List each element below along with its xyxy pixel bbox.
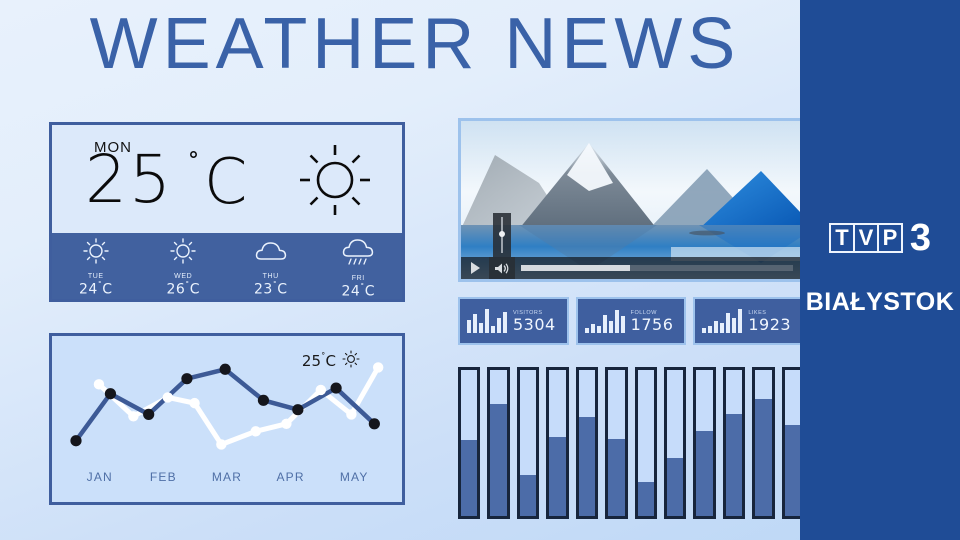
- gauge-fill: [549, 437, 565, 516]
- mini-bar: [603, 315, 607, 333]
- mini-bar: [615, 310, 619, 333]
- current-conditions: MON 25 ˚ C: [52, 125, 402, 233]
- chart-x-axis: JAN FEB MAR APR MAY: [52, 470, 402, 484]
- data-point: [331, 382, 342, 393]
- stat-value: 5304: [513, 316, 556, 333]
- gauge-fill: [608, 439, 624, 516]
- stat-text: LIKES 1923: [748, 310, 791, 333]
- weather-news-broadcast-graphic: WEATHER NEWS MON 25 ˚ C: [0, 0, 960, 540]
- gauge-bar: [517, 367, 539, 519]
- callout-temperature: 25˚C: [302, 352, 336, 370]
- forecast-temperature: 24˚C: [341, 283, 375, 300]
- mini-bar: [479, 323, 483, 333]
- mini-bar: [732, 318, 736, 333]
- stat-card-visitors[interactable]: VISITORS 5304: [458, 297, 569, 345]
- forecast-day-wed: WED 26˚C: [140, 233, 228, 299]
- data-point: [143, 409, 154, 420]
- mini-bar: [708, 326, 712, 333]
- gauge-fill: [579, 417, 595, 516]
- forecast-day-thu: THU 23˚C: [227, 233, 315, 299]
- tvp-logo: T V P 3: [800, 222, 960, 254]
- data-point: [70, 435, 81, 446]
- forecast-temperature: 24˚C: [79, 281, 113, 298]
- gauge-fill: [638, 482, 654, 516]
- video-progress-fill: [521, 265, 630, 271]
- gauge-bar: [752, 367, 774, 519]
- mini-bar: [702, 328, 706, 333]
- sun-icon: [81, 238, 111, 271]
- temperature-trend-chart: 25˚C JAN: [49, 333, 405, 505]
- forecast-day-fri: FRI 24˚C: [315, 233, 403, 299]
- data-point: [316, 385, 326, 395]
- stat-card-likes[interactable]: LIKES 1923: [693, 297, 804, 345]
- forecast-day-label: FRI: [352, 275, 365, 282]
- tvp-letter-t: T: [829, 223, 855, 253]
- tvp-letter-boxes: T V P: [829, 223, 903, 253]
- gauge-bar: [635, 367, 657, 519]
- data-point: [189, 398, 199, 408]
- current-temperature-unit: C: [204, 151, 247, 213]
- axis-tick-feb: FEB: [132, 470, 196, 484]
- forecast-temperature: 26˚C: [166, 281, 200, 298]
- tvp-letter-p: P: [877, 223, 903, 253]
- forecast-temperature: 23˚C: [254, 281, 288, 298]
- mini-bar: [473, 314, 477, 333]
- data-point: [181, 373, 192, 384]
- forecast-day-tue: TUE 24˚C: [52, 233, 140, 299]
- gauge-fill: [520, 475, 536, 516]
- cloud-icon: [254, 238, 288, 271]
- rain-icon: [341, 238, 375, 273]
- data-point: [251, 426, 261, 436]
- sun-icon: [168, 238, 198, 271]
- gauge-bar: [546, 367, 568, 519]
- data-point: [105, 388, 116, 399]
- stat-text: VISITORS 5304: [513, 310, 556, 333]
- data-point: [216, 439, 226, 449]
- data-point: [373, 362, 383, 372]
- gauge-bar: [487, 367, 509, 519]
- tvp-channel-number: 3: [910, 222, 931, 254]
- gauge-fill: [785, 425, 801, 516]
- forecast-day-label: TUE: [88, 273, 104, 280]
- mini-bar: [485, 309, 489, 333]
- video-progress-bar[interactable]: [521, 265, 793, 271]
- current-temperature: 25: [85, 147, 173, 213]
- gauge-bar: [723, 367, 745, 519]
- gauge-bar: [693, 367, 715, 519]
- sun-icon: [342, 350, 360, 372]
- gauge-fill: [726, 414, 742, 516]
- data-point: [369, 418, 380, 429]
- video-scene-image: [461, 121, 801, 279]
- mini-bar-chart-icon: [467, 309, 507, 333]
- data-point: [258, 395, 269, 406]
- sun-icon: [296, 141, 374, 224]
- mini-bar: [720, 323, 724, 333]
- gauge-bar: [605, 367, 627, 519]
- mini-bar-chart-icon: [585, 309, 625, 333]
- tvp-letter-v: V: [853, 223, 879, 253]
- chart-callout: 25˚C: [302, 350, 360, 372]
- stat-value: 1756: [631, 316, 674, 333]
- mini-bar: [609, 321, 613, 333]
- gauge-fill: [696, 431, 712, 516]
- mini-bar: [503, 312, 507, 333]
- volume-slider[interactable]: [493, 213, 511, 257]
- current-degree-symbol: ˚: [187, 151, 200, 181]
- gauge-bar-chart: [458, 367, 804, 519]
- tvp-city-label: BIAŁYSTOK: [800, 288, 960, 317]
- axis-tick-mar: MAR: [195, 470, 259, 484]
- data-point: [281, 419, 291, 429]
- broadcaster-panel: T V P 3 BIAŁYSTOK: [800, 0, 960, 540]
- play-icon[interactable]: [461, 257, 489, 279]
- mini-bar: [591, 324, 595, 333]
- data-point: [346, 409, 356, 419]
- weather-card: MON 25 ˚ C: [49, 122, 405, 302]
- page-title: WEATHER NEWS: [0, 2, 830, 86]
- mini-bar: [621, 316, 625, 333]
- mini-bar: [497, 318, 501, 333]
- gauge-fill: [461, 440, 477, 516]
- forecast-strip: TUE 24˚C: [52, 233, 402, 299]
- gauge-bar: [664, 367, 686, 519]
- mini-bar-chart-icon: [702, 309, 742, 333]
- data-point: [163, 392, 173, 402]
- data-point: [94, 379, 104, 389]
- data-point: [220, 364, 231, 375]
- data-point: [292, 404, 303, 415]
- video-controls-bar[interactable]: [461, 257, 801, 279]
- forecast-day-label: THU: [263, 273, 279, 280]
- mini-bar: [597, 326, 601, 333]
- gauge-bar: [458, 367, 480, 519]
- axis-tick-may: MAY: [322, 470, 386, 484]
- data-point: [128, 411, 138, 421]
- mini-bar: [491, 326, 495, 333]
- gauge-fill: [755, 399, 771, 516]
- mini-bar: [714, 321, 718, 333]
- axis-tick-apr: APR: [259, 470, 323, 484]
- stat-value: 1923: [748, 316, 791, 333]
- mini-bar: [467, 320, 471, 333]
- mini-bar: [585, 328, 589, 333]
- gauge-fill: [667, 458, 683, 516]
- stats-row: VISITORS 5304 FOLLOW 1756 LIKES 1923: [458, 297, 804, 345]
- mini-bar: [726, 313, 730, 333]
- axis-tick-jan: JAN: [68, 470, 132, 484]
- gauge-fill: [490, 404, 506, 516]
- stat-card-follow[interactable]: FOLLOW 1756: [576, 297, 687, 345]
- video-player[interactable]: [458, 118, 804, 282]
- forecast-day-label: WED: [174, 273, 192, 280]
- stat-text: FOLLOW 1756: [631, 310, 674, 333]
- mini-bar: [738, 309, 742, 333]
- gauge-bar: [576, 367, 598, 519]
- volume-icon[interactable]: [489, 257, 515, 279]
